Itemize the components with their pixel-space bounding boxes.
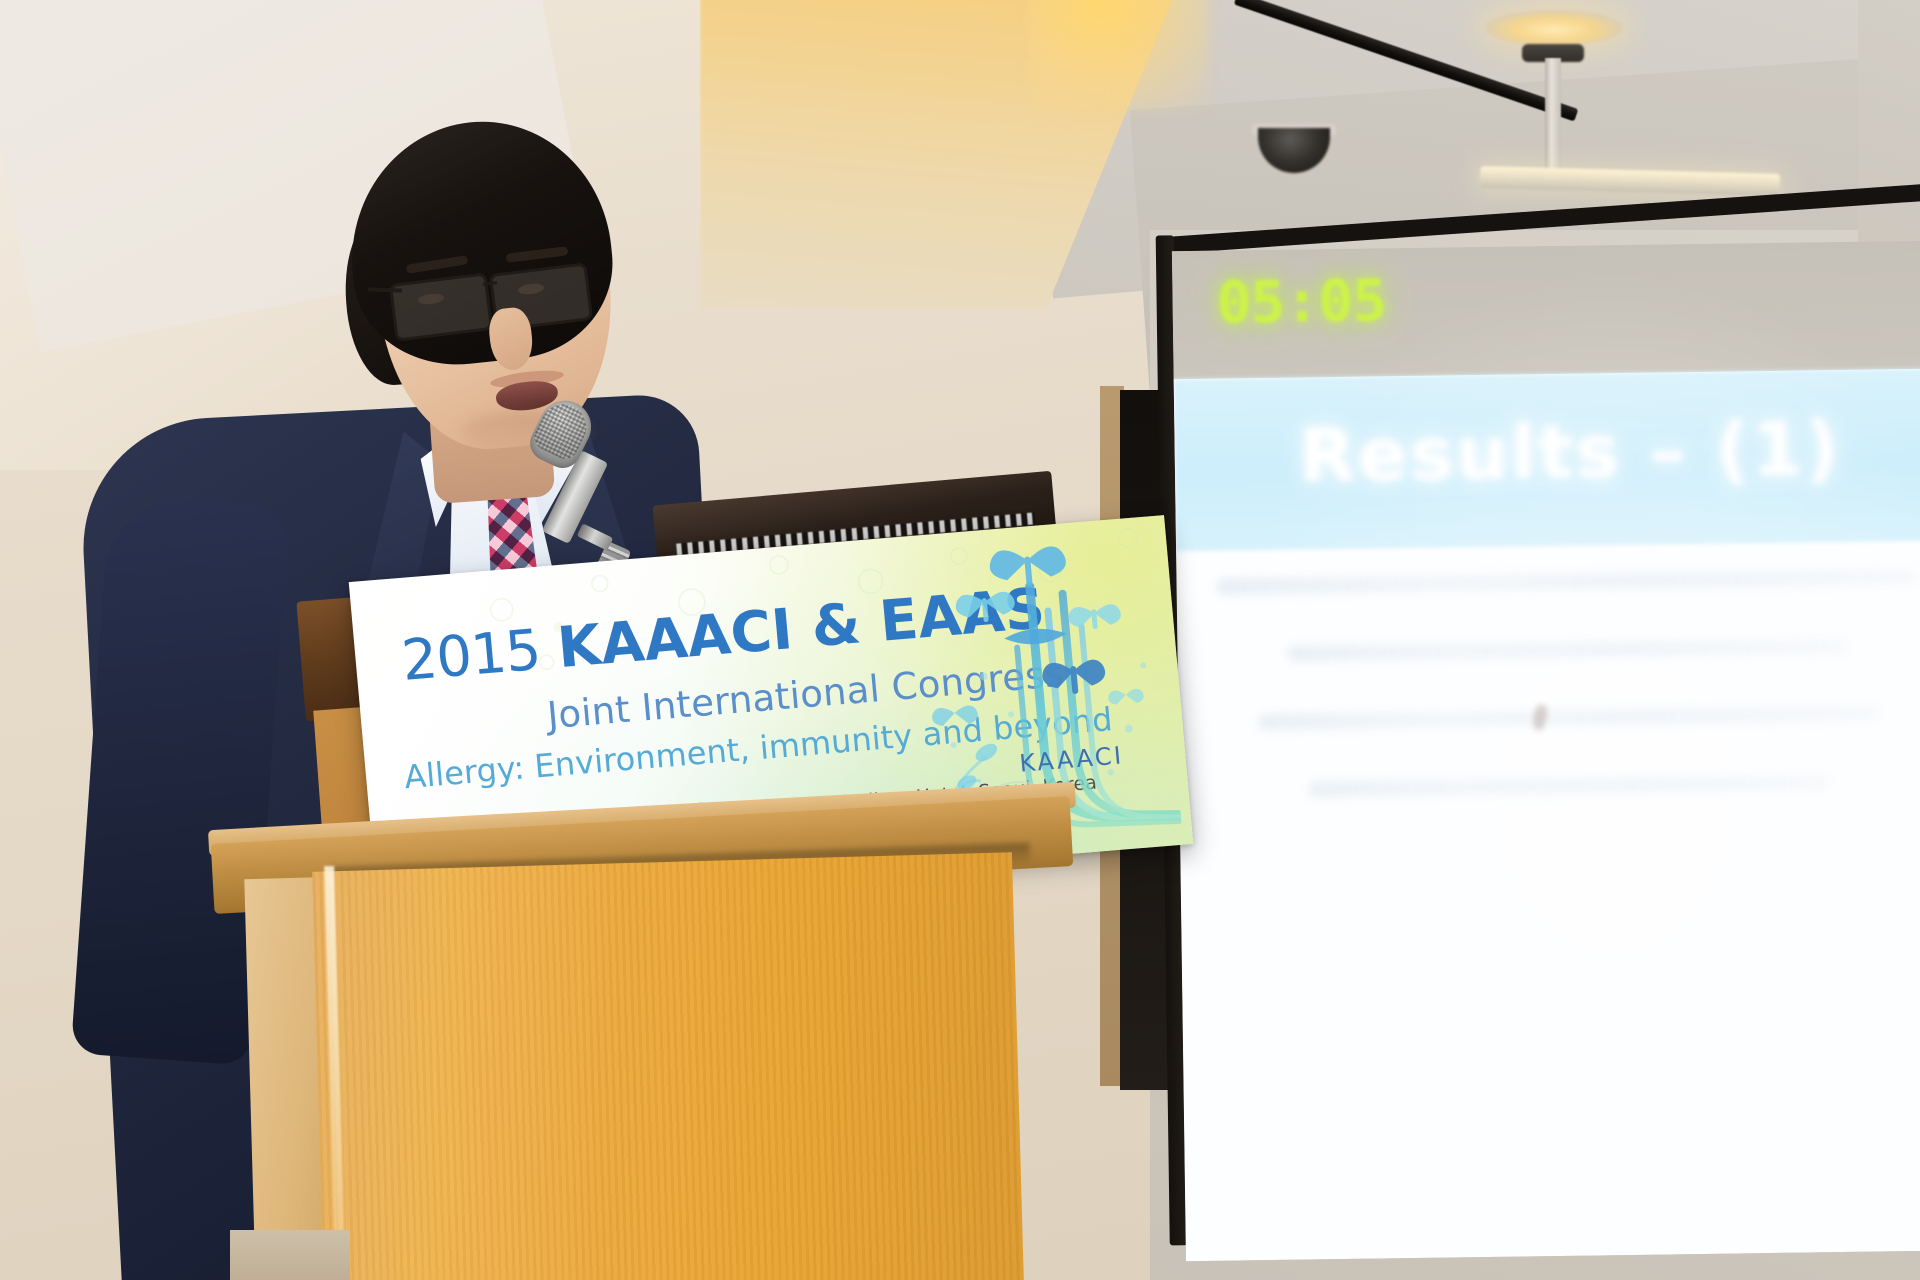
- slide-body-line: [1258, 705, 1878, 730]
- screen-surface: 05:05 Results – (1): [1172, 240, 1920, 1261]
- pendant-light-stem: [1545, 58, 1561, 176]
- slide-body-line: [1309, 774, 1829, 797]
- glasses-lens-left: [389, 272, 493, 342]
- pendant-light-icon: [1485, 10, 1623, 46]
- slide-body: [1216, 569, 1920, 851]
- photo-scene: 05:05 Results – (1): [0, 0, 1920, 1280]
- slide-title: Results – (1): [1174, 404, 1920, 501]
- projection-screen: 05:05 Results – (1): [1148, 216, 1920, 1280]
- slide-body-line: [1287, 638, 1847, 662]
- countdown-timer: 05:05: [1216, 266, 1387, 336]
- podium-floor-base: [230, 1230, 350, 1280]
- slide-body-line: [1216, 569, 1916, 595]
- podium-front-panel: [312, 852, 1024, 1280]
- cove-light-hotspot: [1030, 0, 1210, 110]
- projected-slide: Results – (1): [1174, 368, 1920, 1261]
- banner-year: 2015: [399, 618, 543, 694]
